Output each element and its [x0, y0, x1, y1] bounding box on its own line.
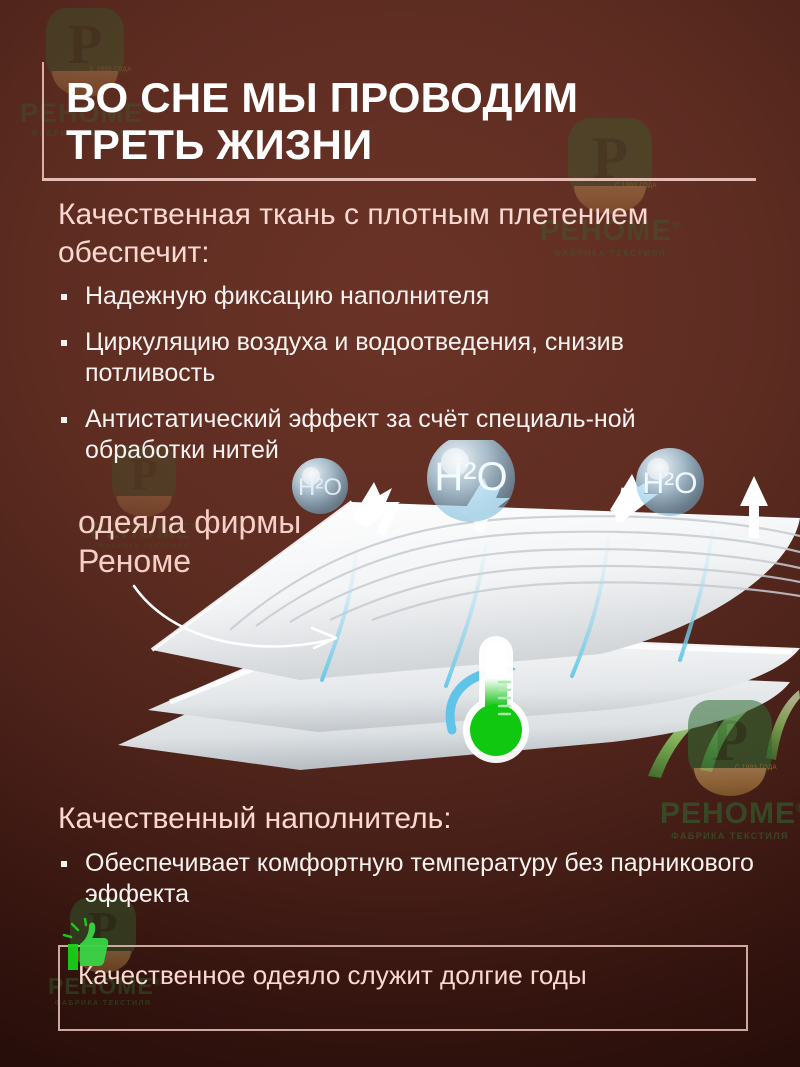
list-item: Надежную фиксацию наполнителя	[58, 281, 758, 313]
page-title-line-2: ТРЕТЬ ЖИЗНИ	[66, 121, 372, 168]
promo-banner: Р С 1993 ГОДА РЕНОМЕ® ФАБРИКА ТЕКСТИЛЯ Р…	[0, 0, 800, 1067]
list-item: Обеспечивает комфортную температуру без …	[58, 848, 758, 911]
h2o-bubble-label: H²O	[643, 467, 698, 500]
title-horizontal-rule	[42, 178, 756, 181]
callout-arrow-icon	[130, 578, 360, 658]
brand-callout: одеяла фирмы Реноме	[78, 503, 418, 581]
watermark-established: С 1993 ГОДА	[615, 183, 657, 189]
thumbs-up-icon	[62, 918, 110, 974]
brand-callout-line-2: Реноме	[78, 542, 418, 581]
filler-section-heading: Качественный наполнитель:	[58, 800, 758, 838]
filler-benefits-list: Обеспечивает комфортную температуру без …	[58, 848, 758, 911]
title-block: ВО СНЕ МЫ ПРОВОДИМ ТРЕТЬ ЖИЗНИ	[42, 62, 756, 168]
product-illustration: H²O H²O H²O	[0, 440, 800, 790]
h2o-bubble-medium: H²O	[636, 448, 704, 516]
h2o-bubble-label: H²O	[298, 474, 342, 501]
promise-box-text: Качественное одеяло служит долгие годы	[60, 947, 746, 1004]
fabric-section: Качественная ткань с плотным плетением о…	[58, 196, 758, 481]
fabric-section-heading: Качественная ткань с плотным плетением о…	[58, 196, 758, 271]
title-vertical-rule	[42, 62, 44, 178]
page-title: ВО СНЕ МЫ ПРОВОДИМ ТРЕТЬ ЖИЗНИ	[42, 62, 756, 168]
promise-box: Качественное одеяло служит долгие годы	[58, 945, 748, 1031]
page-title-line-1: ВО СНЕ МЫ ПРОВОДИМ	[66, 74, 578, 121]
h2o-bubble-label: H²O	[434, 455, 507, 499]
filler-section: Качественный наполнитель: Обеспечивает к…	[58, 800, 758, 925]
product-illustration-svg: H²O H²O H²O	[0, 440, 800, 790]
list-item: Циркуляцию воздуха и водоотведения, сниз…	[58, 327, 758, 390]
fabric-benefits-list: Надежную фиксацию наполнителя Циркуляцию…	[58, 281, 758, 467]
brand-callout-line-1: одеяла фирмы	[78, 503, 418, 542]
